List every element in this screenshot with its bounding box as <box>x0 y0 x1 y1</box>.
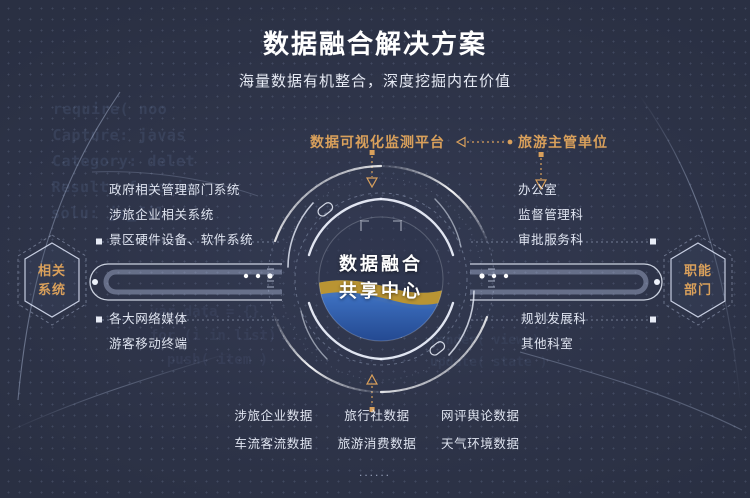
left-bottom-system-list: 各大网络媒体 游客移动终端 <box>109 307 188 357</box>
label-visualization-platform[interactable]: 数据可视化监测平台 <box>310 132 445 152</box>
list-item[interactable]: 景区硬件设备、软件系统 <box>109 228 253 253</box>
hexagon-functional-departments[interactable]: 职能 部门 <box>660 232 736 328</box>
list-item[interactable]: 审批服务科 <box>518 228 584 253</box>
hexagon-related-systems[interactable]: 相关 系统 <box>14 232 90 328</box>
core-ring-graphic <box>265 163 497 395</box>
list-item[interactable]: 旅行社数据 <box>325 405 428 424</box>
list-item[interactable]: 其他科室 <box>521 332 587 357</box>
hexagon-right-line1: 职能 <box>684 261 712 280</box>
list-item[interactable]: 涉旅企业数据 <box>222 405 325 424</box>
list-item[interactable]: 规划发展科 <box>521 307 587 332</box>
list-item[interactable]: 办公室 <box>518 178 584 203</box>
right-top-department-list: 办公室 监督管理科 审批服务科 <box>518 178 584 253</box>
list-item[interactable]: 旅游消费数据 <box>325 433 428 452</box>
bottom-data-grid: 涉旅企业数据 旅行社数据 网评舆论数据 车流客流数据 旅游消费数据 天气环境数据 <box>222 405 532 452</box>
list-item[interactable]: 政府相关管理部门系统 <box>109 178 253 203</box>
hexagon-left-line1: 相关 <box>38 261 66 280</box>
hexagon-left-text: 相关 系统 <box>14 232 90 328</box>
bottom-ellipsis: ...... <box>0 465 750 479</box>
hexagon-right-text: 职能 部门 <box>660 232 736 328</box>
hexagon-right-line2: 部门 <box>684 280 712 299</box>
right-bottom-department-list: 规划发展科 其他科室 <box>521 307 587 357</box>
page-subtitle: 海量数据有机整合，深度挖掘内在价值 <box>0 70 750 91</box>
list-item[interactable]: 车流客流数据 <box>222 433 325 452</box>
infographic-canvas: require( noo Capture: javas Category: de… <box>0 0 750 498</box>
dotted-arrow-left-icon <box>449 132 519 152</box>
hexagon-left-line2: 系统 <box>38 280 66 299</box>
list-item[interactable]: 涉旅企业相关系统 <box>109 203 253 228</box>
page-title: 数据融合解决方案 <box>0 24 750 61</box>
list-item[interactable]: 各大网络媒体 <box>109 307 188 332</box>
list-item[interactable]: 天气环境数据 <box>429 433 532 452</box>
list-item[interactable]: 网评舆论数据 <box>429 405 532 424</box>
list-item[interactable]: 游客移动终端 <box>109 332 188 357</box>
left-top-system-list: 政府相关管理部门系统 涉旅企业相关系统 景区硬件设备、软件系统 <box>109 178 253 253</box>
label-tourism-authority[interactable]: 旅游主管单位 <box>518 132 608 152</box>
list-item[interactable]: 监督管理科 <box>518 203 584 228</box>
